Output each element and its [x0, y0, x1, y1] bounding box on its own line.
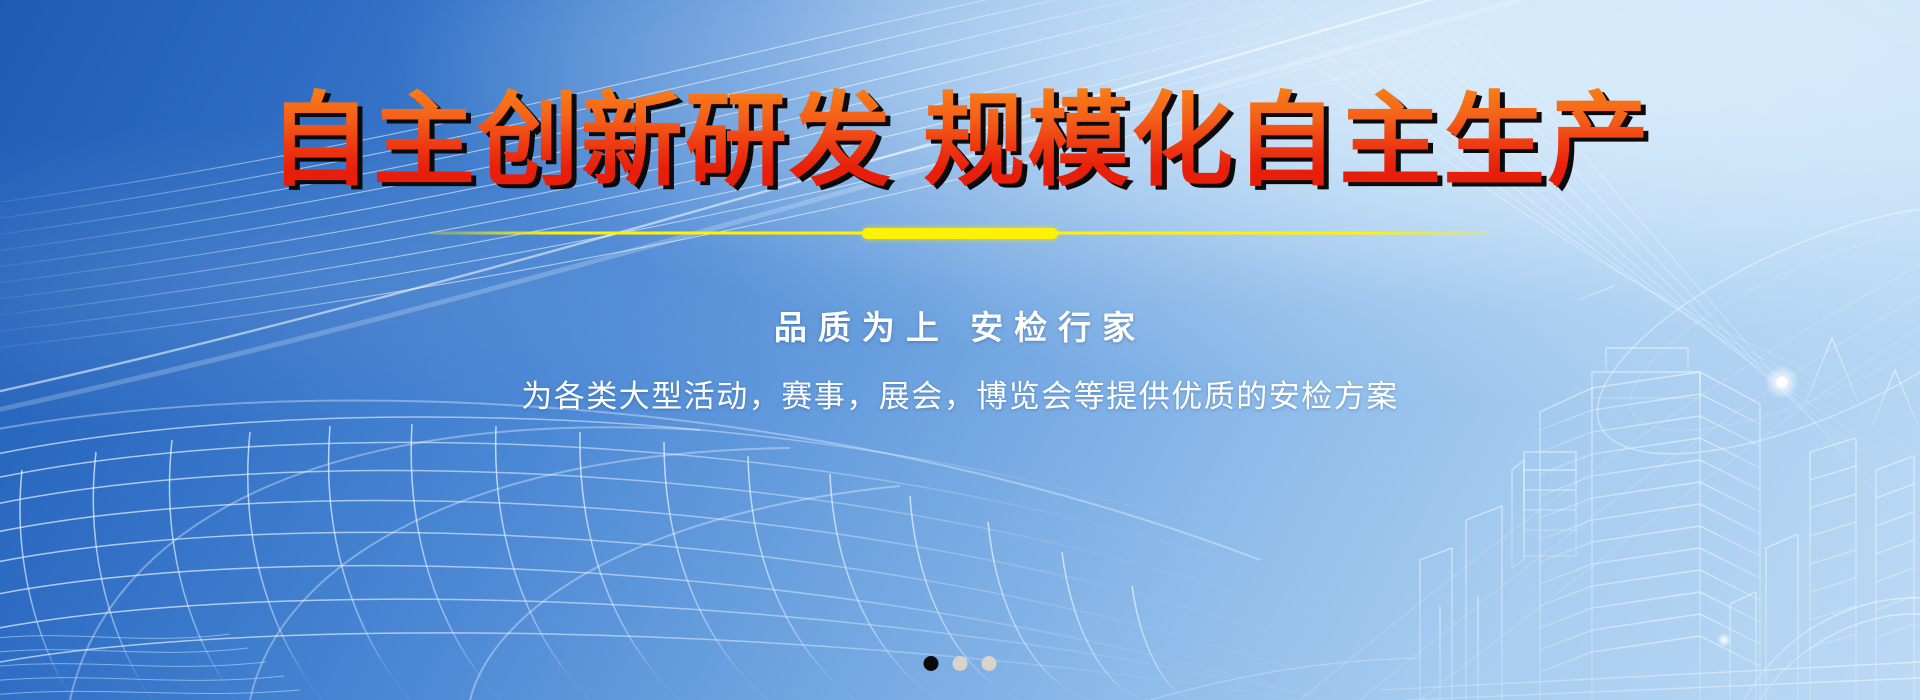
banner-content: 自主创新研发 规模化自主生产 品质为上 安检行家 为各类大型活动，赛事，展会，博… [0, 0, 1920, 700]
subtitle-description: 为各类大型活动，赛事，展会，博览会等提供优质的安检方案 [521, 371, 1399, 416]
hero-banner-slide: 自主创新研发 规模化自主生产 品质为上 安检行家 为各类大型活动，赛事，展会，博… [0, 0, 1920, 700]
carousel-next-button[interactable] [1830, 0, 1920, 700]
carousel-dot-1[interactable] [924, 656, 939, 671]
carousel-dot-3[interactable] [982, 656, 997, 671]
divider-thick-segment [862, 228, 1058, 239]
page-title: 自主创新研发 规模化自主生产 [269, 88, 1651, 195]
carousel-dots[interactable] [924, 656, 997, 671]
carousel-prev-button[interactable] [0, 0, 90, 700]
yellow-divider [430, 227, 1490, 239]
subtitle-primary: 品质为上 安检行家 [774, 301, 1146, 349]
carousel-dot-2[interactable] [953, 656, 968, 671]
